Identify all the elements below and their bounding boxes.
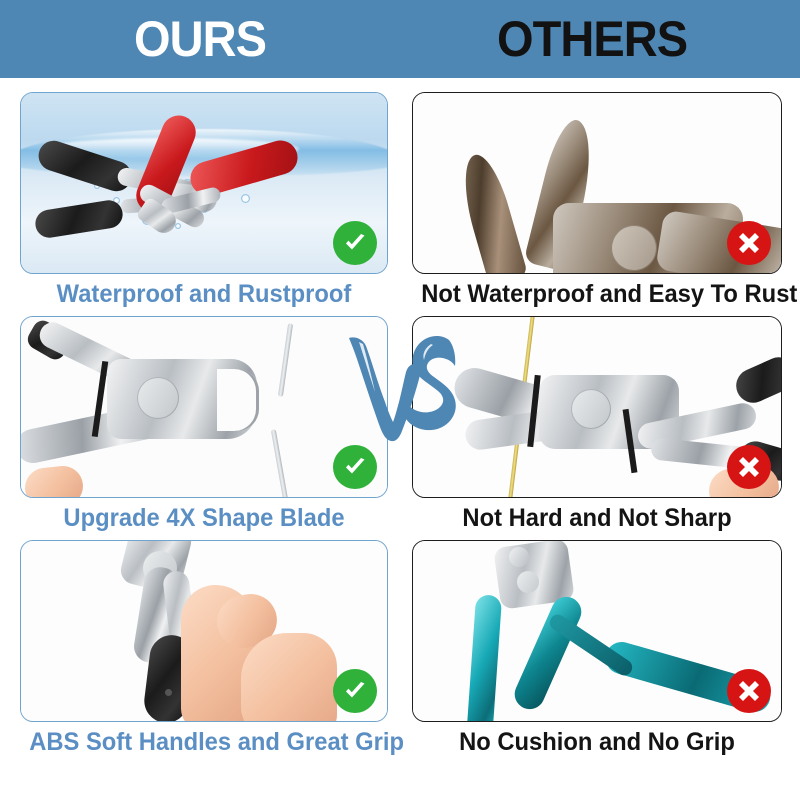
ours-photo-1: [21, 93, 387, 273]
ours-caption-3: ABS Soft Handles and Great Grip: [29, 726, 379, 758]
hand-back: [241, 633, 337, 721]
others-cell-2: Not Hard and Not Sharp: [412, 316, 782, 498]
ours-caption-1: Waterproof and Rustproof: [29, 278, 379, 310]
ours-card-1: [20, 92, 388, 274]
comparison-infographic: OURS OTHERS: [0, 0, 800, 800]
others-caption-3: No Cushion and No Grip: [421, 726, 773, 758]
nipper-screw: [509, 547, 529, 567]
ours-caption-2: Upgrade 4X Shape Blade: [29, 502, 379, 534]
rusty-jaw-lower: [454, 150, 528, 273]
vs-brush-mark: [345, 332, 460, 444]
header-band: OURS OTHERS: [0, 0, 800, 78]
nipper-pivot: [571, 389, 611, 429]
check-badge: [333, 221, 377, 265]
ours-cell-1: Waterproof and Rustproof: [20, 92, 388, 274]
others-card-1: [412, 92, 782, 274]
nipper-pivot: [137, 377, 179, 419]
ours-photo-3: [21, 541, 387, 721]
ours-card-3: [20, 540, 388, 722]
ours-card-2: [20, 316, 388, 498]
others-card-3: [412, 540, 782, 722]
others-card-2: [412, 316, 782, 498]
blade-gap: [217, 369, 259, 431]
others-caption-1: Not Waterproof and Easy To Rust: [421, 278, 773, 310]
check-badge: [333, 445, 377, 489]
others-photo-3: [413, 541, 781, 721]
rusty-pivot: [611, 225, 657, 271]
others-cell-3: No Cushion and No Grip: [412, 540, 782, 722]
ours-title: OURS: [134, 8, 266, 70]
cross-badge: [727, 221, 771, 265]
teal-handle-right-upper: [510, 592, 586, 714]
others-cell-1: Not Waterproof and Easy To Rust: [412, 92, 782, 274]
teal-handle-left: [466, 594, 502, 721]
fingertip: [23, 464, 85, 497]
handle-rivet-left: [165, 689, 172, 696]
nipper-pivot: [517, 571, 539, 593]
check-badge: [333, 669, 377, 713]
steel-wire-bottom: [271, 429, 288, 497]
black-handle-right-top: [731, 352, 781, 408]
others-caption-2: Not Hard and Not Sharp: [421, 502, 773, 534]
bubble: [241, 194, 250, 203]
ours-cell-2: Upgrade 4X Shape Blade: [20, 316, 388, 498]
others-title: OTHERS: [497, 8, 687, 70]
others-photo-1: [413, 93, 781, 273]
steel-wire-top: [278, 323, 293, 397]
cross-badge: [727, 445, 771, 489]
ours-cell-3: ABS Soft Handles and Great Grip: [20, 540, 388, 722]
others-photo-2: [413, 317, 781, 497]
ours-photo-2: [21, 317, 387, 497]
cross-badge: [727, 669, 771, 713]
